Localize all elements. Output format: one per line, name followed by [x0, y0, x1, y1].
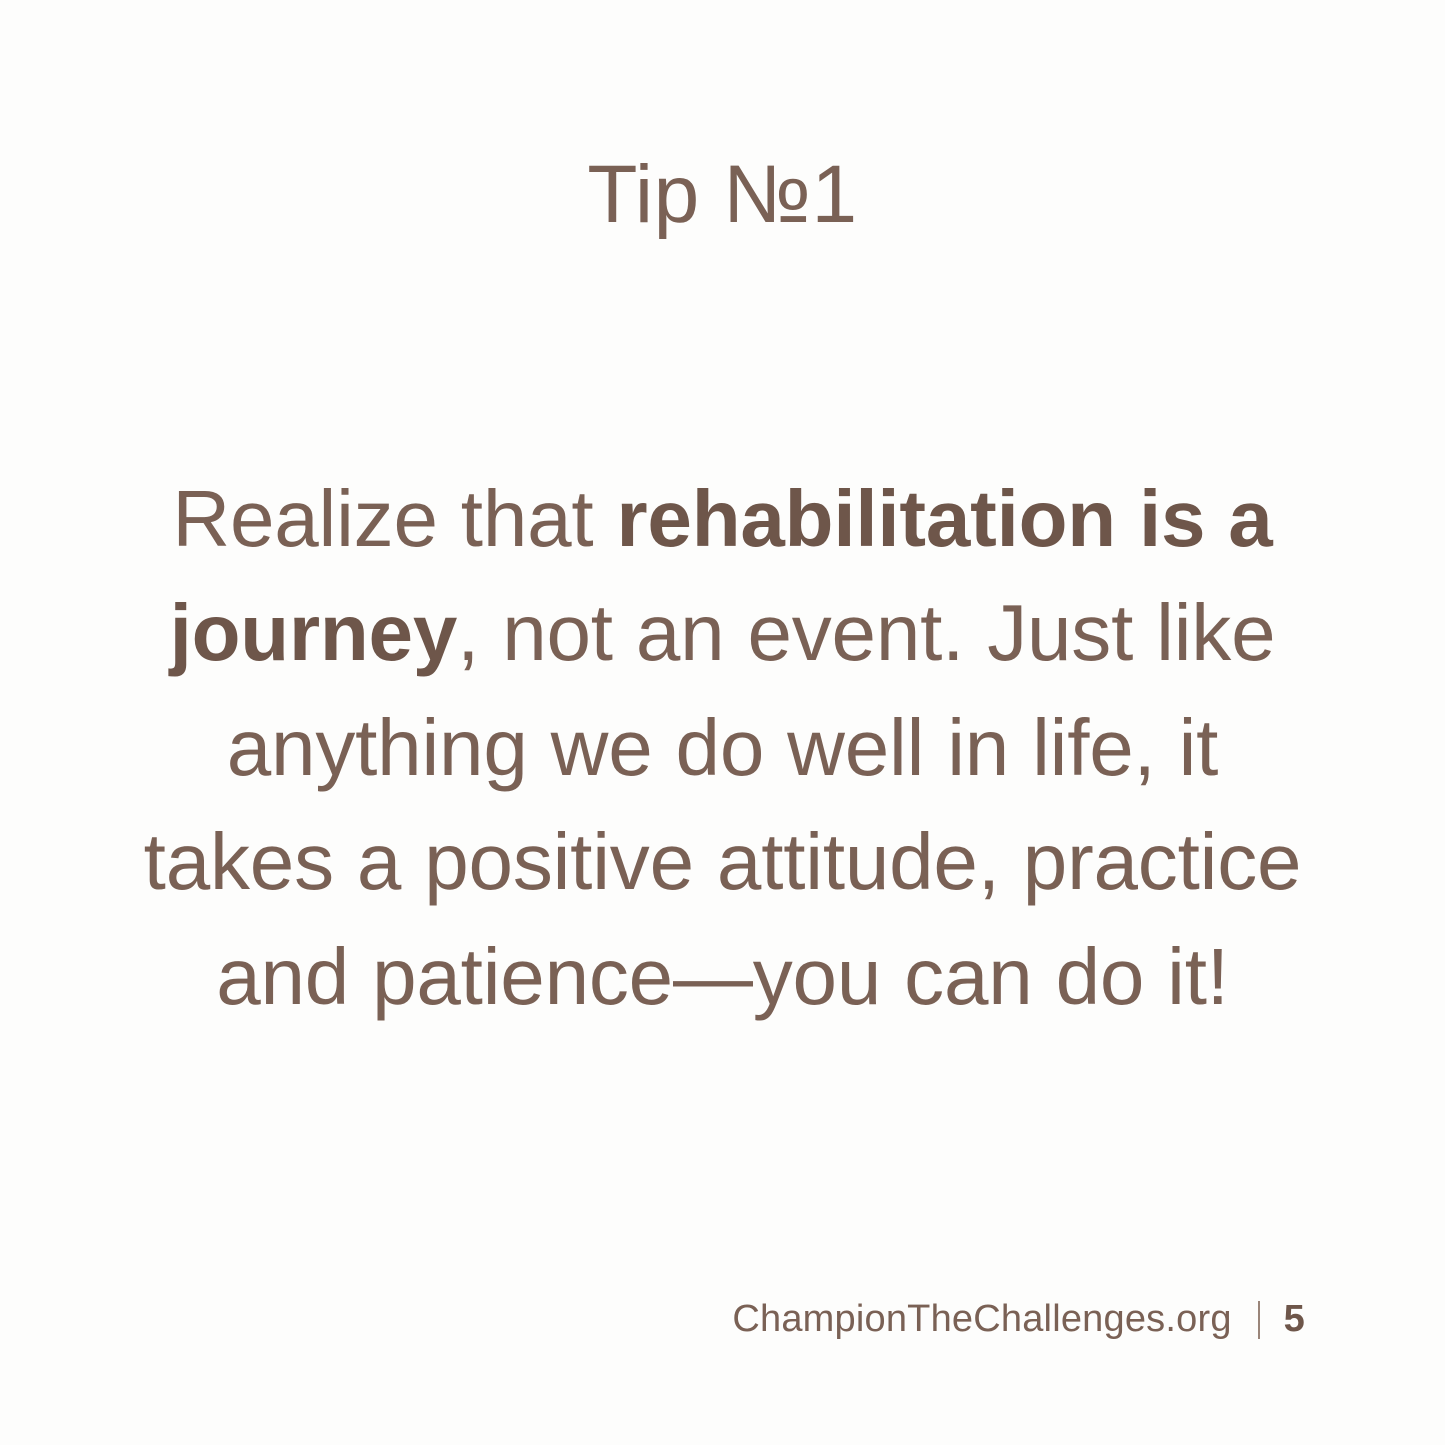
footer-website-link[interactable]: ChampionTheChallenges.org: [732, 1298, 1231, 1341]
page-title: Tip №1: [0, 152, 1445, 238]
footer-page-number: 5: [1284, 1298, 1305, 1341]
tip-body-text: Realize that rehabilitation is a journey…: [130, 462, 1315, 1034]
footer: ChampionTheChallenges.org 5: [732, 1298, 1305, 1341]
tip-card: Tip №1 Realize that rehabilitation is a …: [0, 0, 1445, 1445]
tip-body-segment-1: Realize that: [172, 474, 616, 563]
footer-separator-divider: [1258, 1301, 1260, 1339]
